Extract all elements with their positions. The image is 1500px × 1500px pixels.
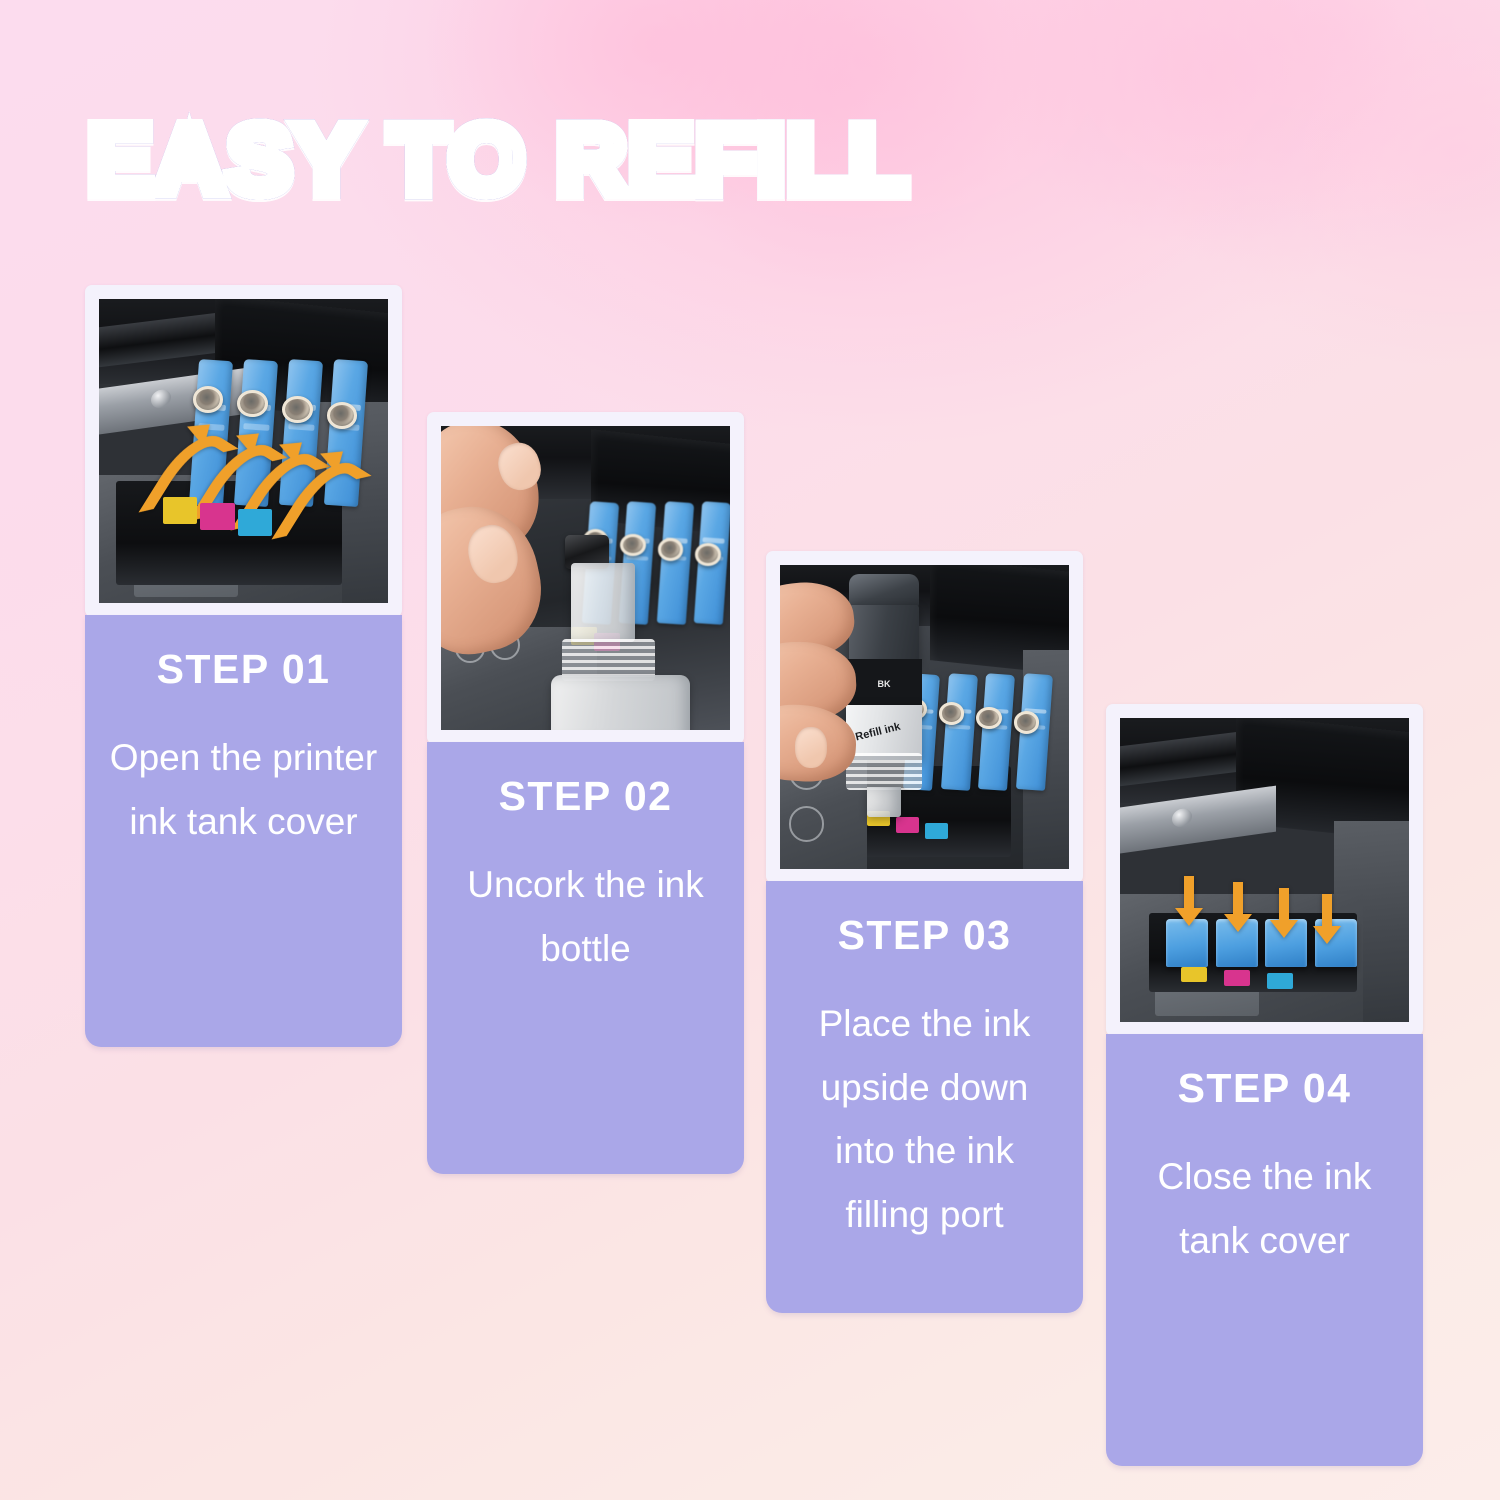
step-1-photo-frame bbox=[85, 285, 402, 617]
close-arrow-3 bbox=[1279, 888, 1289, 921]
ink-chip-cyan bbox=[925, 823, 948, 838]
ink-cap-closed-1 bbox=[1166, 919, 1208, 968]
infographic-canvas: EASY TO REFILL bbox=[0, 0, 1500, 1500]
printer-ink-tank-closed-photo bbox=[1120, 718, 1409, 1022]
fill-port-4 bbox=[1014, 711, 1040, 733]
step-3-title: STEP 03 bbox=[784, 915, 1065, 956]
step-2-text-card: STEP 02 Uncork the ink bottle bbox=[427, 742, 744, 1174]
ink-chip-yellow bbox=[1181, 967, 1207, 982]
hand bbox=[780, 583, 867, 808]
close-arrow-1 bbox=[1184, 876, 1194, 909]
step-1-body: Open the printer ink tank cover bbox=[103, 726, 384, 853]
close-arrow-2 bbox=[1233, 882, 1243, 915]
step-card-2: STEP 02 Uncork the ink bottle bbox=[427, 412, 744, 1174]
bottle-nozzle bbox=[867, 787, 902, 817]
ink-cap-open-2 bbox=[941, 674, 978, 791]
step-card-3: BK Refill ink STEP 03 Place the i bbox=[766, 551, 1083, 1313]
hand bbox=[441, 426, 591, 712]
page-title: EASY TO REFILL bbox=[88, 112, 911, 208]
fill-port-3 bbox=[976, 707, 1002, 729]
step-4-body: Close the ink tank cover bbox=[1124, 1145, 1405, 1272]
step-2-photo-frame bbox=[427, 412, 744, 744]
step-1-text-card: STEP 01 Open the printer ink tank cover bbox=[85, 615, 402, 1047]
step-4-title: STEP 04 bbox=[1124, 1068, 1405, 1109]
ink-cap-open-3 bbox=[656, 501, 693, 624]
fill-port-4 bbox=[327, 402, 357, 429]
ink-chip-yellow bbox=[163, 497, 198, 524]
step-1-title: STEP 01 bbox=[103, 649, 384, 690]
step-card-1: STEP 01 Open the printer ink tank cover bbox=[85, 285, 402, 1047]
step-3-photo-frame: BK Refill ink bbox=[766, 551, 1083, 883]
step-4-photo-frame bbox=[1106, 704, 1423, 1036]
ink-chip-magenta bbox=[896, 817, 919, 832]
fill-port-4 bbox=[695, 543, 721, 565]
step-card-4: STEP 04 Close the ink tank cover bbox=[1106, 704, 1423, 1466]
ink-chip-cyan bbox=[1267, 973, 1293, 988]
fill-port-1 bbox=[193, 386, 223, 413]
step-2-body: Uncork the ink bottle bbox=[445, 853, 726, 980]
fill-port-2 bbox=[620, 534, 646, 556]
ink-chip-cyan bbox=[238, 509, 273, 536]
bottle-into-filling-port-photo: BK Refill ink bbox=[780, 565, 1069, 869]
fill-port-2 bbox=[939, 702, 965, 724]
step-3-body: Place the ink upside down into the ink f… bbox=[784, 992, 1065, 1247]
ink-chip-magenta bbox=[200, 503, 235, 530]
fill-port-3 bbox=[658, 538, 684, 560]
fill-port-3 bbox=[282, 396, 312, 423]
step-2-title: STEP 02 bbox=[445, 776, 726, 817]
hand-uncorking-bottle-photo bbox=[441, 426, 730, 730]
printer-function-button bbox=[789, 806, 825, 842]
step-3-text-card: STEP 03 Place the ink upside down into t… bbox=[766, 881, 1083, 1313]
fill-port-2 bbox=[237, 390, 267, 417]
printer-ink-tank-open-photo bbox=[99, 299, 388, 603]
ink-cap-open-3 bbox=[978, 674, 1015, 791]
close-arrow-4 bbox=[1322, 894, 1332, 927]
step-4-text-card: STEP 04 Close the ink tank cover bbox=[1106, 1034, 1423, 1466]
open-cap-row bbox=[907, 674, 1057, 790]
finger-nail bbox=[795, 727, 827, 767]
ink-chip-magenta bbox=[1224, 970, 1250, 985]
